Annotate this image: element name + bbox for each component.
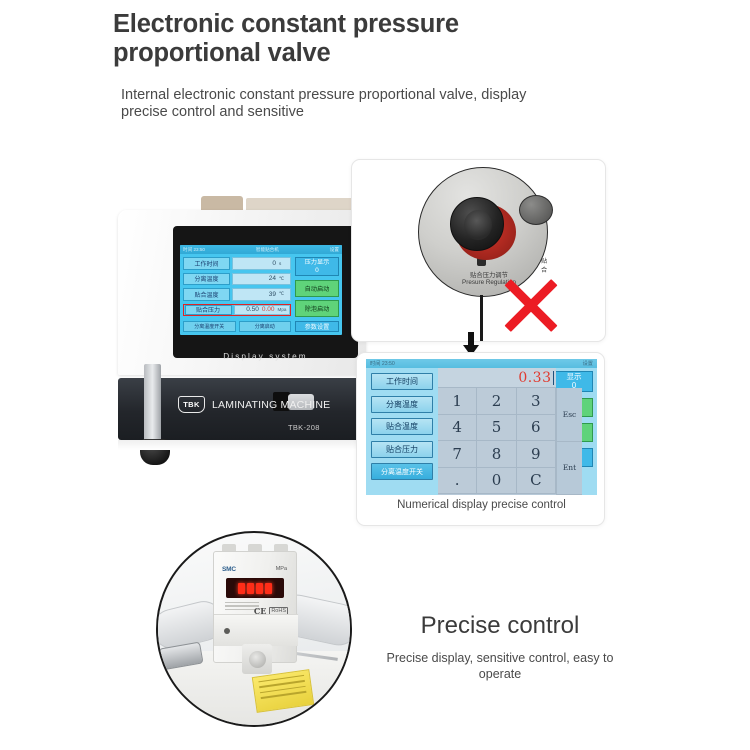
sensor-port-hole	[249, 651, 266, 668]
lcd-status-right: 设置	[330, 247, 339, 253]
tbk-diamond-icon: TBK	[178, 396, 205, 413]
keypad-label-separation-switch[interactable]: 分离温度开关	[371, 463, 433, 480]
key-4[interactable]: 4	[438, 415, 477, 442]
lcd-status-bar: 时间 23:50 智能贴合机 设置	[180, 245, 342, 254]
lcd-value: 0.50	[246, 306, 259, 313]
lcd-value-field[interactable]: 39 ℃	[232, 288, 291, 301]
keypad-status-bar: 时间 23:50 设置	[366, 359, 597, 368]
sensor-indicator-dot	[224, 628, 230, 634]
lcd-value: 24	[269, 275, 276, 282]
lcd-unit: Mpa	[278, 307, 286, 312]
key-0[interactable]: 0	[477, 468, 516, 495]
keypad-inner: 工作时间 分离温度 贴合温度 贴合压力 分离温度开关 显示 0 启动 启动 设置	[366, 368, 597, 495]
keypad-screen: 时间 23:50 设置 工作时间 分离温度 贴合温度 贴合压力 分离温度开关 显…	[366, 359, 597, 495]
key-2[interactable]: 2	[477, 388, 516, 415]
machine-left-post	[144, 364, 161, 444]
smc-logo: SMC	[222, 566, 236, 573]
machine-lcd-screen: 时间 23:50 智能贴合机 设置 工作时间 0 s 分离温度	[180, 245, 342, 335]
lcd-button-value: 0	[315, 267, 319, 274]
knob-side-fitting	[519, 195, 553, 225]
lcd-unit: ℃	[279, 276, 287, 282]
red-x-icon	[498, 272, 564, 338]
lcd-button-separation-switch[interactable]: 分离温度开关	[183, 321, 236, 332]
key-3[interactable]: 3	[517, 388, 556, 415]
lcd-button-separation-start[interactable]: 分离启动	[239, 321, 292, 332]
lcd-value: 39	[269, 291, 276, 298]
keypad-parameter-labels: 工作时间 分离温度 贴合温度 贴合压力 分离温度开关	[371, 373, 433, 480]
machine-branding: TBK LAMINATING MACHINE	[178, 396, 330, 413]
laminating-machine-photo: 时间 23:50 智能贴合机 设置 工作时间 0 s 分离温度	[118, 196, 378, 496]
key-8[interactable]: 8	[477, 441, 516, 468]
sensor-body: SMC MPa CE RoHS	[213, 551, 297, 663]
lcd-value-field[interactable]: 0 s	[232, 257, 291, 270]
machine-shadow	[118, 440, 373, 450]
key-6[interactable]: 6	[517, 415, 556, 442]
knob-stem	[480, 295, 483, 342]
page-subtitle: Internal electronic constant pressure pr…	[121, 87, 533, 121]
key-7[interactable]: 7	[438, 441, 477, 468]
lcd-button-pressure-display[interactable]: 压力显示 0	[295, 257, 339, 276]
lcd-button-parameter-settings[interactable]: 参数设置	[295, 321, 339, 332]
keypad-label-laminating-pressure[interactable]: 贴合压力	[371, 441, 433, 458]
keypad-digit-grid: 1 2 3 4 5 6 7 8 9 . 0 C	[438, 388, 556, 494]
lcd-value-field[interactable]: 24 ℃	[232, 273, 291, 286]
key-escape[interactable]: Esc	[557, 388, 582, 442]
lcd-button-auto-start[interactable]: 自动启动	[295, 280, 339, 297]
infographic-page: Electronic constant pressure proportiona…	[0, 0, 750, 750]
keypad-status-left: 时间 23:50	[370, 360, 395, 367]
keypad-label-separation-temp[interactable]: 分离温度	[371, 396, 433, 413]
keypad-function-keys: Esc Ent	[556, 388, 582, 495]
lcd-label: 贴合压力	[185, 305, 232, 315]
sensor-air-port	[242, 644, 272, 674]
lcd-button-label: 压力显示	[305, 259, 330, 266]
lcd-side-buttons: 压力显示 0 自动启动 除泡启动 参数设置	[295, 257, 339, 332]
lcd-label: 分离温度	[183, 273, 230, 286]
lcd-label: 贴合温度	[183, 288, 230, 301]
numeric-keypad-card: 时间 23:50 设置 工作时间 分离温度 贴合温度 贴合压力 分离温度开关 显…	[356, 352, 605, 526]
lcd-value: 0	[272, 260, 276, 267]
sensor-unit-label: MPa	[276, 566, 287, 572]
machine-model-text: TBK-208	[288, 423, 320, 432]
pressure-knob-card: 贴合压力调节 Presure Regulation 贴合	[351, 159, 606, 342]
lcd-row-work-time[interactable]: 工作时间 0 s	[183, 257, 291, 270]
bottom-text-block: Precise control Precise display, sensiti…	[375, 612, 625, 682]
display-system-label: Display system	[173, 352, 358, 361]
lcd-row-laminating-pressure-highlighted[interactable]: 贴合压力 0.50 0.00 Mpa	[183, 304, 291, 317]
lcd-unit: s	[279, 261, 287, 266]
lcd-status-title: 智能贴合机	[256, 247, 279, 253]
keypad-value-display: 0.33	[438, 368, 556, 388]
lcd-label: 工作时间	[183, 257, 230, 270]
bottom-subtitle: Precise display, sensitive control, easy…	[375, 651, 625, 682]
header: Electronic constant pressure proportiona…	[113, 10, 533, 121]
lcd-parameter-list: 工作时间 0 s 分离温度 24 ℃ 贴合温	[183, 257, 291, 332]
key-1[interactable]: 1	[438, 388, 477, 415]
text-caret	[553, 371, 555, 385]
key-enter[interactable]: Ent	[557, 442, 582, 496]
page-title: Electronic constant pressure proportiona…	[113, 10, 533, 68]
numeric-keypad: 0.33 1 2 3 4 5 6 7 8 9 . 0	[438, 368, 556, 495]
key-clear[interactable]: C	[517, 468, 556, 495]
sensor-led-display	[226, 578, 284, 598]
lcd-value-secondary: 0.00	[262, 306, 275, 313]
bottom-title: Precise control	[375, 612, 625, 640]
lcd-status-left: 时间 23:50	[183, 247, 205, 253]
keypad-label-work-time[interactable]: 工作时间	[371, 373, 433, 390]
key-5[interactable]: 5	[477, 415, 516, 442]
keypad-label-laminating-temp[interactable]: 贴合温度	[371, 418, 433, 435]
knob-cap-inner	[464, 210, 492, 240]
keypad-entered-value: 0.33	[518, 370, 551, 386]
machine-brand-text: LAMINATING MACHINE	[212, 399, 330, 411]
keypad-status-right: 设置	[583, 360, 593, 367]
keypad-caption: Numerical display precise control	[357, 499, 605, 511]
lcd-row-separation-temp[interactable]: 分离温度 24 ℃	[183, 273, 291, 286]
lcd-unit: ℃	[279, 291, 287, 297]
key-decimal-point[interactable]: .	[438, 468, 477, 495]
pressure-sensor-photo: SMC MPa CE RoHS	[156, 531, 352, 727]
lcd-bottom-buttons: 分离温度开关 分离启动	[183, 321, 291, 332]
key-9[interactable]: 9	[517, 441, 556, 468]
knob-black-cap	[450, 197, 504, 251]
lcd-row-laminating-temp[interactable]: 贴合温度 39 ℃	[183, 288, 291, 301]
lcd-value-field[interactable]: 0.50 0.00 Mpa	[234, 305, 290, 315]
lcd-button-defoam-start[interactable]: 除泡启动	[295, 300, 339, 317]
lcd-body: 工作时间 0 s 分离温度 24 ℃ 贴合温	[180, 254, 342, 335]
